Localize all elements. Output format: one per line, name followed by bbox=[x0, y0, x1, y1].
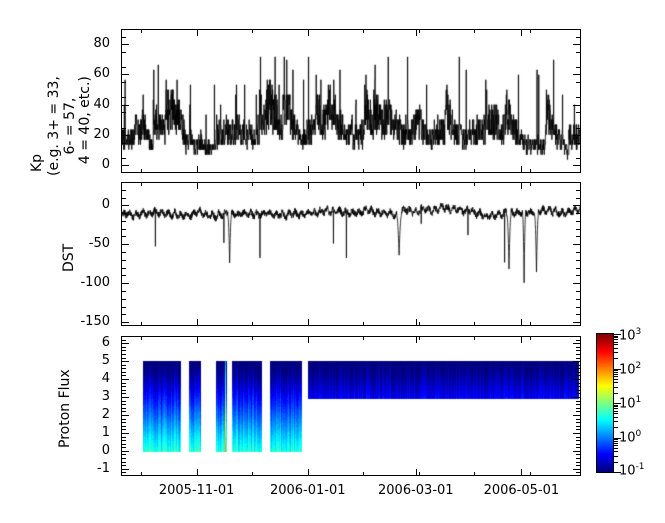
axis-tick bbox=[614, 427, 618, 428]
axis-tick bbox=[614, 348, 618, 349]
axis-tick bbox=[576, 383, 581, 384]
axis-tick bbox=[121, 105, 129, 106]
axis-tick bbox=[416, 166, 417, 173]
axis-tick bbox=[121, 383, 126, 384]
axis-tick bbox=[573, 415, 581, 416]
axis-tick bbox=[614, 339, 618, 340]
axis-tick bbox=[121, 198, 126, 199]
axis-tick bbox=[576, 465, 581, 466]
axis-tick bbox=[121, 411, 126, 412]
colorbar-label-1em1: 10-1 bbox=[619, 463, 645, 477]
axis-tick bbox=[576, 275, 581, 276]
axis-tick bbox=[419, 182, 420, 186]
axis-tick bbox=[576, 82, 581, 83]
axis-tick bbox=[614, 370, 618, 371]
axis-tick bbox=[121, 472, 126, 473]
kp-axis-note-line2: 6- = 57, bbox=[62, 98, 78, 155]
axis-tick bbox=[416, 469, 417, 476]
axis-tick bbox=[141, 336, 142, 340]
axis-tick bbox=[121, 128, 126, 129]
axis-tick bbox=[573, 379, 581, 380]
axis-tick bbox=[121, 340, 126, 341]
axis-tick-label: 5 bbox=[0, 354, 110, 367]
axis-tick bbox=[121, 404, 126, 405]
axis-tick bbox=[521, 319, 522, 326]
axis-tick bbox=[576, 236, 581, 237]
axis-tick-label: -100 bbox=[0, 276, 110, 289]
axis-tick bbox=[197, 469, 198, 476]
axis-tick bbox=[419, 336, 420, 340]
cb-exponent-1e1: 1 bbox=[636, 395, 642, 405]
axis-tick bbox=[576, 429, 581, 430]
axis-tick bbox=[573, 74, 581, 75]
axis-tick bbox=[576, 365, 581, 366]
axis-tick bbox=[576, 252, 581, 253]
axis-tick bbox=[121, 372, 126, 373]
axis-tick bbox=[252, 336, 253, 340]
axis-tick bbox=[121, 165, 129, 166]
axis-tick bbox=[141, 29, 142, 33]
axis-tick bbox=[419, 169, 420, 173]
axis-tick bbox=[614, 387, 618, 388]
axis-tick bbox=[474, 322, 475, 326]
axis-tick bbox=[576, 52, 581, 53]
axis-tick bbox=[576, 440, 581, 441]
axis-tick bbox=[614, 405, 618, 406]
axis-tick bbox=[576, 447, 581, 448]
axis-tick bbox=[121, 221, 126, 222]
axis-tick bbox=[121, 386, 126, 387]
cb-mantissa-1e0: 10 bbox=[619, 430, 636, 445]
axis-tick bbox=[416, 336, 417, 343]
axis-tick bbox=[308, 469, 309, 476]
axis-tick bbox=[121, 419, 126, 420]
axis-tick bbox=[573, 433, 581, 434]
axis-tick bbox=[576, 390, 581, 391]
axis-tick bbox=[614, 337, 618, 338]
colorbar-label-1e3: 103 bbox=[619, 328, 641, 342]
axis-tick bbox=[614, 456, 618, 457]
x-axis-tick-label: 2006-01-01 bbox=[266, 484, 350, 497]
axis-tick bbox=[121, 283, 129, 284]
colorbar-label-1e0: 100 bbox=[619, 430, 641, 444]
cb-mantissa-1e3: 10 bbox=[619, 328, 636, 343]
axis-tick bbox=[121, 354, 126, 355]
axis-tick bbox=[121, 307, 126, 308]
proton-flux-axis-title: Proton Flux bbox=[58, 369, 74, 448]
axis-tick bbox=[121, 347, 126, 348]
axis-tick bbox=[576, 67, 581, 68]
axis-tick bbox=[573, 44, 581, 45]
axis-tick bbox=[121, 112, 126, 113]
axis-tick bbox=[252, 472, 253, 476]
axis-tick bbox=[530, 182, 531, 186]
axis-tick bbox=[576, 198, 581, 199]
axis-tick bbox=[573, 283, 581, 284]
axis-tick bbox=[576, 368, 581, 369]
axis-tick bbox=[121, 236, 126, 237]
axis-tick bbox=[576, 221, 581, 222]
axis-tick bbox=[121, 401, 126, 402]
axis-tick bbox=[614, 462, 618, 463]
axis-tick bbox=[576, 372, 581, 373]
axis-tick-label: -1 bbox=[0, 462, 110, 475]
axis-tick bbox=[576, 393, 581, 394]
axis-tick bbox=[521, 166, 522, 173]
axis-tick bbox=[530, 336, 531, 340]
axis-tick bbox=[121, 469, 129, 470]
axis-tick bbox=[121, 74, 129, 75]
axis-tick bbox=[121, 350, 126, 351]
axis-tick bbox=[121, 422, 126, 423]
axis-tick bbox=[614, 379, 618, 380]
axis-tick bbox=[576, 260, 581, 261]
axis-tick bbox=[121, 458, 126, 459]
colorbar-label-1e2: 102 bbox=[619, 362, 641, 376]
axis-tick bbox=[576, 307, 581, 308]
axis-tick bbox=[121, 361, 129, 362]
axis-tick bbox=[576, 158, 581, 159]
kp-axis-note-line1: (e.g. 3+ = 33, bbox=[46, 76, 62, 176]
axis-tick bbox=[474, 336, 475, 340]
axis-tick bbox=[614, 451, 618, 452]
axis-tick bbox=[573, 244, 581, 245]
x-axis-tick-label: 2006-03-01 bbox=[374, 484, 458, 497]
axis-tick bbox=[614, 382, 618, 383]
axis-tick bbox=[121, 437, 126, 438]
axis-tick bbox=[614, 411, 618, 412]
axis-tick bbox=[474, 169, 475, 173]
axis-tick bbox=[197, 336, 198, 343]
axis-tick bbox=[121, 67, 126, 68]
axis-tick bbox=[576, 350, 581, 351]
axis-tick bbox=[614, 342, 618, 343]
axis-tick bbox=[121, 158, 126, 159]
axis-tick bbox=[121, 358, 126, 359]
axis-tick bbox=[121, 447, 126, 448]
cb-exponent-1e3: 3 bbox=[636, 327, 642, 337]
axis-tick bbox=[121, 52, 126, 53]
axis-tick bbox=[363, 169, 364, 173]
axis-tick bbox=[521, 182, 522, 189]
dst-series-canvas bbox=[122, 183, 580, 325]
axis-tick bbox=[576, 37, 581, 38]
axis-tick bbox=[121, 454, 126, 455]
axis-tick bbox=[121, 462, 126, 463]
axis-tick bbox=[576, 347, 581, 348]
axis-tick bbox=[576, 190, 581, 191]
axis-tick bbox=[576, 291, 581, 292]
axis-tick-label: 2 bbox=[0, 408, 110, 421]
x-axis-tick-label: 2006-05-01 bbox=[479, 484, 563, 497]
axis-tick bbox=[576, 404, 581, 405]
axis-tick bbox=[141, 169, 142, 173]
axis-tick bbox=[576, 444, 581, 445]
axis-tick bbox=[308, 319, 309, 326]
axis-tick bbox=[576, 97, 581, 98]
axis-tick bbox=[614, 374, 618, 375]
proton-flux-axis-title-text: Proton Flux bbox=[57, 369, 73, 448]
axis-tick bbox=[121, 408, 126, 409]
axis-tick bbox=[530, 29, 531, 33]
axis-tick bbox=[576, 458, 581, 459]
axis-tick bbox=[576, 299, 581, 300]
dst-axis-title-text: DST bbox=[61, 244, 77, 272]
axis-tick bbox=[614, 358, 618, 359]
axis-tick bbox=[614, 352, 618, 353]
axis-tick bbox=[576, 401, 581, 402]
axis-tick bbox=[252, 322, 253, 326]
cb-exponent-1em1: -1 bbox=[636, 462, 645, 472]
axis-tick bbox=[121, 465, 126, 466]
axis-tick bbox=[474, 29, 475, 33]
axis-tick bbox=[573, 343, 581, 344]
axis-tick bbox=[308, 29, 309, 36]
axis-tick bbox=[474, 182, 475, 186]
axis-tick bbox=[576, 472, 581, 473]
axis-tick bbox=[573, 105, 581, 106]
axis-tick bbox=[573, 165, 581, 166]
axis-tick bbox=[121, 368, 126, 369]
axis-tick bbox=[121, 252, 126, 253]
axis-tick bbox=[121, 390, 126, 391]
axis-tick bbox=[614, 336, 618, 337]
axis-tick-label: 4 bbox=[0, 372, 110, 385]
axis-tick bbox=[530, 169, 531, 173]
axis-tick bbox=[576, 340, 581, 341]
axis-tick bbox=[576, 213, 581, 214]
axis-tick-label: 6 bbox=[0, 336, 110, 349]
axis-tick bbox=[576, 112, 581, 113]
axis-tick bbox=[363, 182, 364, 186]
axis-tick bbox=[614, 421, 618, 422]
axis-tick-label: 0 bbox=[0, 444, 110, 457]
cb-mantissa-1e1: 10 bbox=[619, 396, 636, 411]
axis-tick-label: -150 bbox=[0, 315, 110, 328]
x-axis-tick-label: 2005-11-01 bbox=[155, 484, 239, 497]
cb-mantissa-1e2: 10 bbox=[619, 362, 636, 377]
axis-tick bbox=[530, 472, 531, 476]
axis-tick bbox=[416, 182, 417, 189]
axis-tick bbox=[363, 472, 364, 476]
axis-tick bbox=[576, 411, 581, 412]
axis-tick bbox=[121, 444, 126, 445]
axis-tick bbox=[121, 365, 126, 366]
axis-tick bbox=[573, 451, 581, 452]
axis-tick bbox=[576, 268, 581, 269]
axis-tick bbox=[419, 322, 420, 326]
axis-tick bbox=[197, 29, 198, 36]
figure-root: 020406080 Kp (e.g. 3+ = 33, 6- = 57, 4 =… bbox=[0, 0, 665, 523]
axis-tick bbox=[121, 291, 126, 292]
axis-tick bbox=[121, 97, 126, 98]
axis-tick bbox=[614, 406, 618, 407]
axis-tick bbox=[121, 244, 129, 245]
axis-tick bbox=[308, 166, 309, 173]
axis-tick bbox=[576, 408, 581, 409]
kp-axis-note: (e.g. 3+ = 33, 6- = 57, 4 = 40, etc.) bbox=[47, 76, 94, 176]
colorbar-label-1e1: 101 bbox=[619, 396, 641, 410]
axis-tick bbox=[614, 417, 618, 418]
proton-flux-heatmap-canvas bbox=[122, 337, 580, 475]
axis-tick bbox=[197, 182, 198, 189]
kp-series-canvas bbox=[122, 30, 580, 172]
cb-exponent-1e0: 0 bbox=[636, 429, 642, 439]
axis-tick bbox=[121, 143, 126, 144]
axis-tick bbox=[576, 375, 581, 376]
axis-tick bbox=[121, 205, 129, 206]
axis-tick bbox=[121, 82, 126, 83]
axis-tick bbox=[614, 448, 618, 449]
axis-tick bbox=[576, 454, 581, 455]
axis-tick bbox=[121, 415, 129, 416]
axis-tick bbox=[252, 182, 253, 186]
axis-tick bbox=[252, 29, 253, 33]
axis-tick bbox=[573, 469, 581, 470]
axis-tick bbox=[573, 361, 581, 362]
axis-tick bbox=[121, 314, 126, 315]
axis-tick bbox=[121, 299, 126, 300]
axis-tick bbox=[141, 322, 142, 326]
axis-tick bbox=[419, 472, 420, 476]
axis-tick bbox=[521, 336, 522, 343]
axis-tick bbox=[614, 408, 618, 409]
axis-tick bbox=[576, 386, 581, 387]
axis-tick bbox=[121, 375, 126, 376]
axis-tick bbox=[573, 205, 581, 206]
axis-tick bbox=[576, 422, 581, 423]
axis-tick bbox=[363, 322, 364, 326]
axis-tick bbox=[363, 29, 364, 33]
axis-tick bbox=[614, 393, 618, 394]
axis-tick bbox=[121, 451, 129, 452]
axis-tick bbox=[576, 143, 581, 144]
axis-tick bbox=[121, 213, 126, 214]
axis-tick bbox=[121, 433, 129, 434]
axis-tick bbox=[614, 443, 618, 444]
axis-tick bbox=[576, 354, 581, 355]
axis-tick bbox=[576, 437, 581, 438]
axis-tick bbox=[121, 190, 126, 191]
axis-tick-label: -50 bbox=[0, 237, 110, 250]
axis-tick-label: 3 bbox=[0, 390, 110, 403]
axis-tick bbox=[573, 397, 581, 398]
axis-tick bbox=[121, 440, 126, 441]
axis-tick bbox=[521, 29, 522, 36]
axis-tick bbox=[576, 229, 581, 230]
axis-tick bbox=[121, 37, 126, 38]
axis-tick bbox=[419, 29, 420, 33]
axis-tick bbox=[416, 319, 417, 326]
axis-tick bbox=[614, 344, 618, 345]
axis-tick bbox=[121, 379, 129, 380]
kp-axis-title-line1: Kp bbox=[29, 154, 45, 172]
axis-tick bbox=[308, 182, 309, 189]
axis-tick bbox=[121, 343, 129, 344]
axis-tick bbox=[197, 166, 198, 173]
axis-tick bbox=[363, 336, 364, 340]
axis-tick bbox=[121, 268, 126, 269]
axis-tick bbox=[121, 397, 129, 398]
axis-tick bbox=[121, 44, 129, 45]
axis-tick bbox=[416, 29, 417, 36]
axis-tick bbox=[121, 429, 126, 430]
axis-tick bbox=[121, 322, 129, 323]
axis-tick bbox=[121, 260, 126, 261]
axis-tick bbox=[121, 393, 126, 394]
cb-mantissa-1em1: 10 bbox=[619, 463, 636, 478]
axis-tick bbox=[197, 319, 198, 326]
axis-tick bbox=[614, 441, 618, 442]
axis-tick bbox=[573, 322, 581, 323]
axis-tick bbox=[121, 229, 126, 230]
colorbar-frame bbox=[596, 333, 614, 473]
axis-tick bbox=[614, 445, 618, 446]
axis-tick-label: 0 bbox=[0, 198, 110, 211]
axis-tick bbox=[576, 426, 581, 427]
axis-tick bbox=[121, 426, 126, 427]
axis-tick bbox=[614, 439, 618, 440]
axis-tick bbox=[121, 135, 129, 136]
axis-tick bbox=[530, 322, 531, 326]
kp-axis-title: Kp bbox=[30, 154, 46, 172]
axis-tick bbox=[474, 472, 475, 476]
cb-exponent-1e2: 2 bbox=[636, 361, 642, 371]
axis-tick bbox=[576, 358, 581, 359]
axis-tick bbox=[141, 182, 142, 186]
dst-axis-title: DST bbox=[62, 244, 78, 272]
axis-tick bbox=[614, 413, 618, 414]
axis-tick bbox=[614, 376, 618, 377]
axis-tick bbox=[252, 169, 253, 173]
axis-tick bbox=[576, 462, 581, 463]
axis-tick-label: 1 bbox=[0, 426, 110, 439]
axis-tick bbox=[576, 128, 581, 129]
axis-tick-label: 80 bbox=[0, 37, 110, 50]
axis-tick bbox=[141, 472, 142, 476]
axis-tick bbox=[521, 469, 522, 476]
axis-tick bbox=[573, 135, 581, 136]
axis-tick bbox=[576, 314, 581, 315]
axis-tick bbox=[121, 275, 126, 276]
axis-tick bbox=[308, 336, 309, 343]
kp-axis-note-line3: 4 = 40, etc.) bbox=[77, 76, 93, 164]
axis-tick bbox=[614, 372, 618, 373]
axis-tick bbox=[576, 419, 581, 420]
